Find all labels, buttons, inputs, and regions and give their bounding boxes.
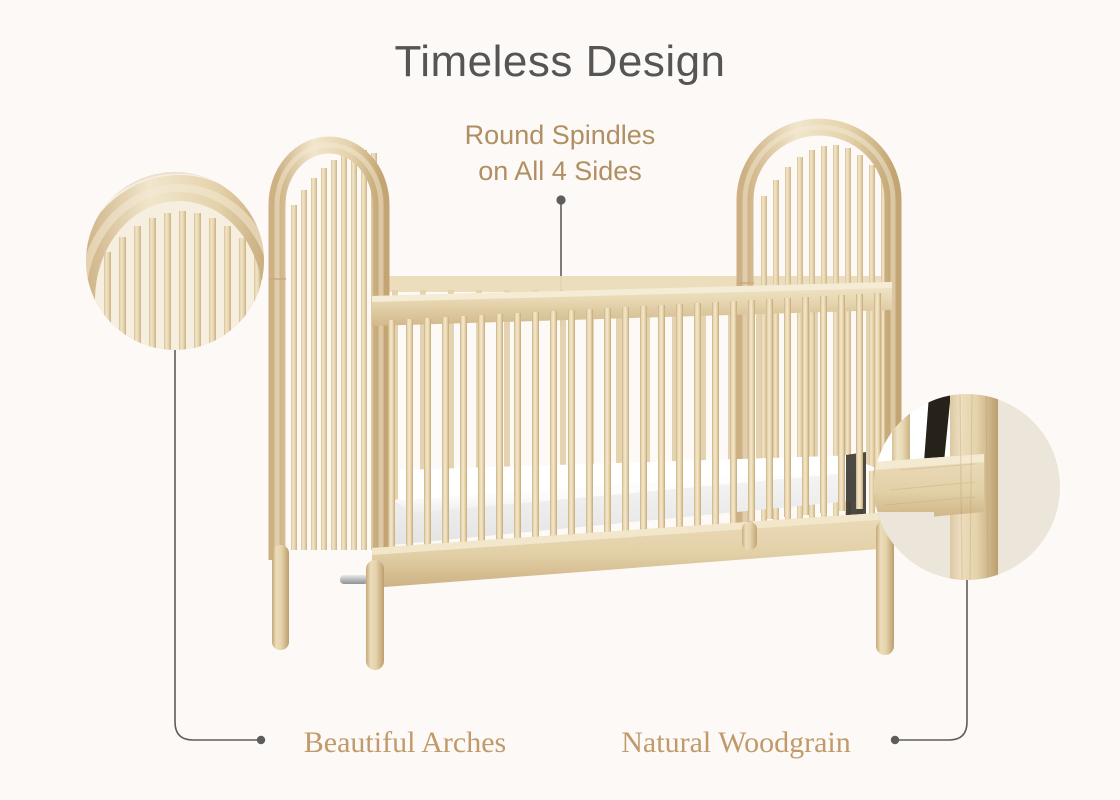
leader-dot-natural-woodgrain	[891, 736, 899, 744]
callout-round-spindles-line2: on All 4 Sides	[478, 156, 642, 186]
right-post-joint	[737, 282, 754, 284]
leg-right-rear	[742, 522, 757, 550]
left-arch-spindles	[291, 150, 377, 550]
callout-natural-woodgrain: Natural Woodgrain	[621, 726, 850, 759]
leg-left-rear	[272, 545, 289, 650]
product-infographic: Timeless Design Round Spindles on All 4 …	[0, 0, 1120, 800]
leader-dot-beautiful-arches	[257, 736, 265, 744]
page-title: Timeless Design	[394, 37, 725, 86]
leg-left-front	[366, 560, 384, 670]
callout-beautiful-arches: Beautiful Arches	[304, 726, 506, 759]
brand-badge	[340, 575, 368, 584]
callout-round-spindles-line1: Round Spindles	[465, 120, 656, 150]
leader-dot-round-spindles	[556, 195, 565, 204]
left-post-joint	[269, 278, 286, 280]
infographic-canvas: Timeless Design Round Spindles on All 4 …	[0, 0, 1120, 800]
